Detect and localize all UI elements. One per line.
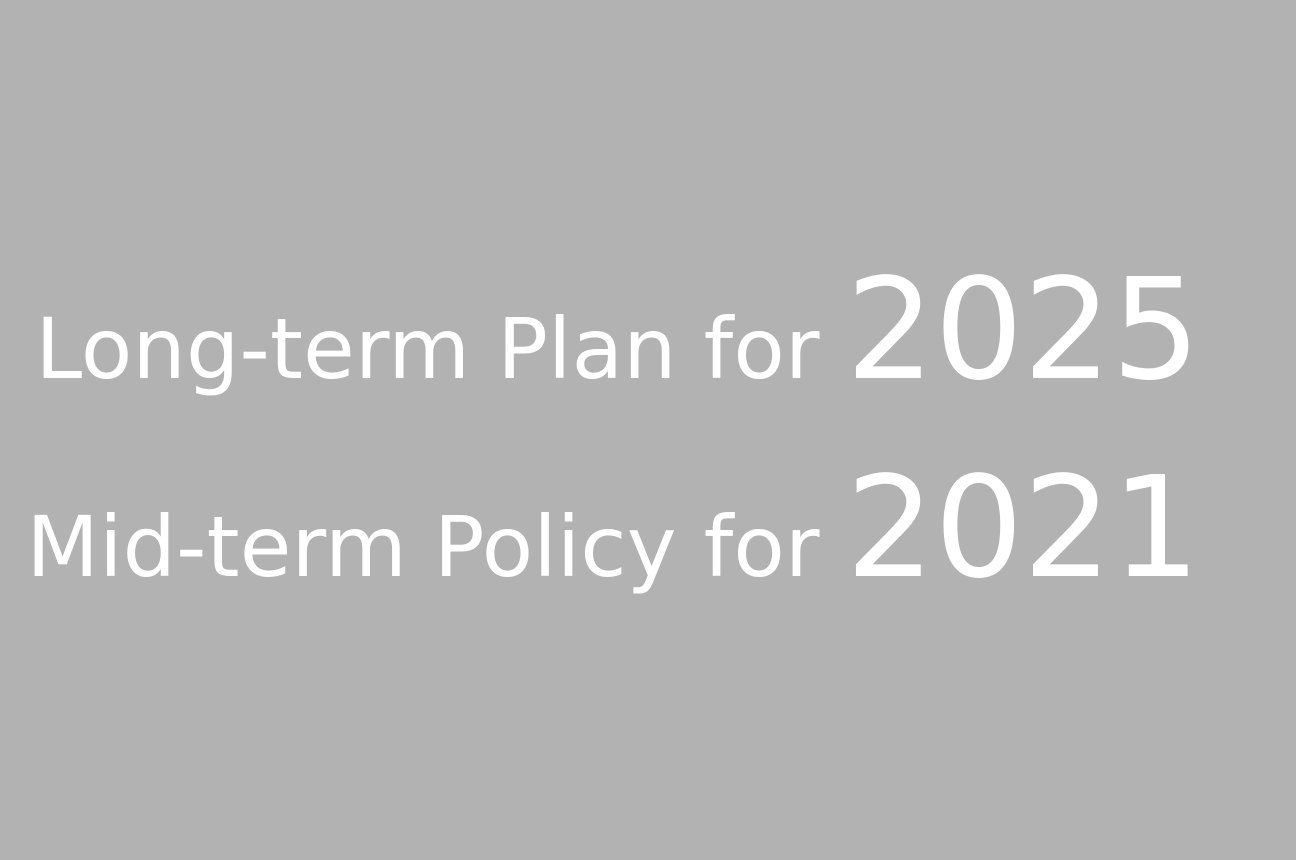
long-term-plan-label: Long-term Plan for bbox=[35, 307, 819, 391]
headline-row-long-term-plan: Long-term Plan for 2025 bbox=[35, 261, 1200, 401]
headline-row-mid-term-policy: Mid-term Policy for 2021 bbox=[26, 459, 1200, 599]
mid-term-policy-label: Mid-term Policy for bbox=[26, 505, 819, 589]
long-term-plan-year: 2025 bbox=[846, 261, 1200, 401]
mid-term-policy-year: 2021 bbox=[846, 459, 1200, 599]
slide-canvas: Long-term Plan for 2025 Mid-term Policy … bbox=[0, 0, 1296, 860]
headline-block: Long-term Plan for 2025 Mid-term Policy … bbox=[26, 261, 1200, 599]
